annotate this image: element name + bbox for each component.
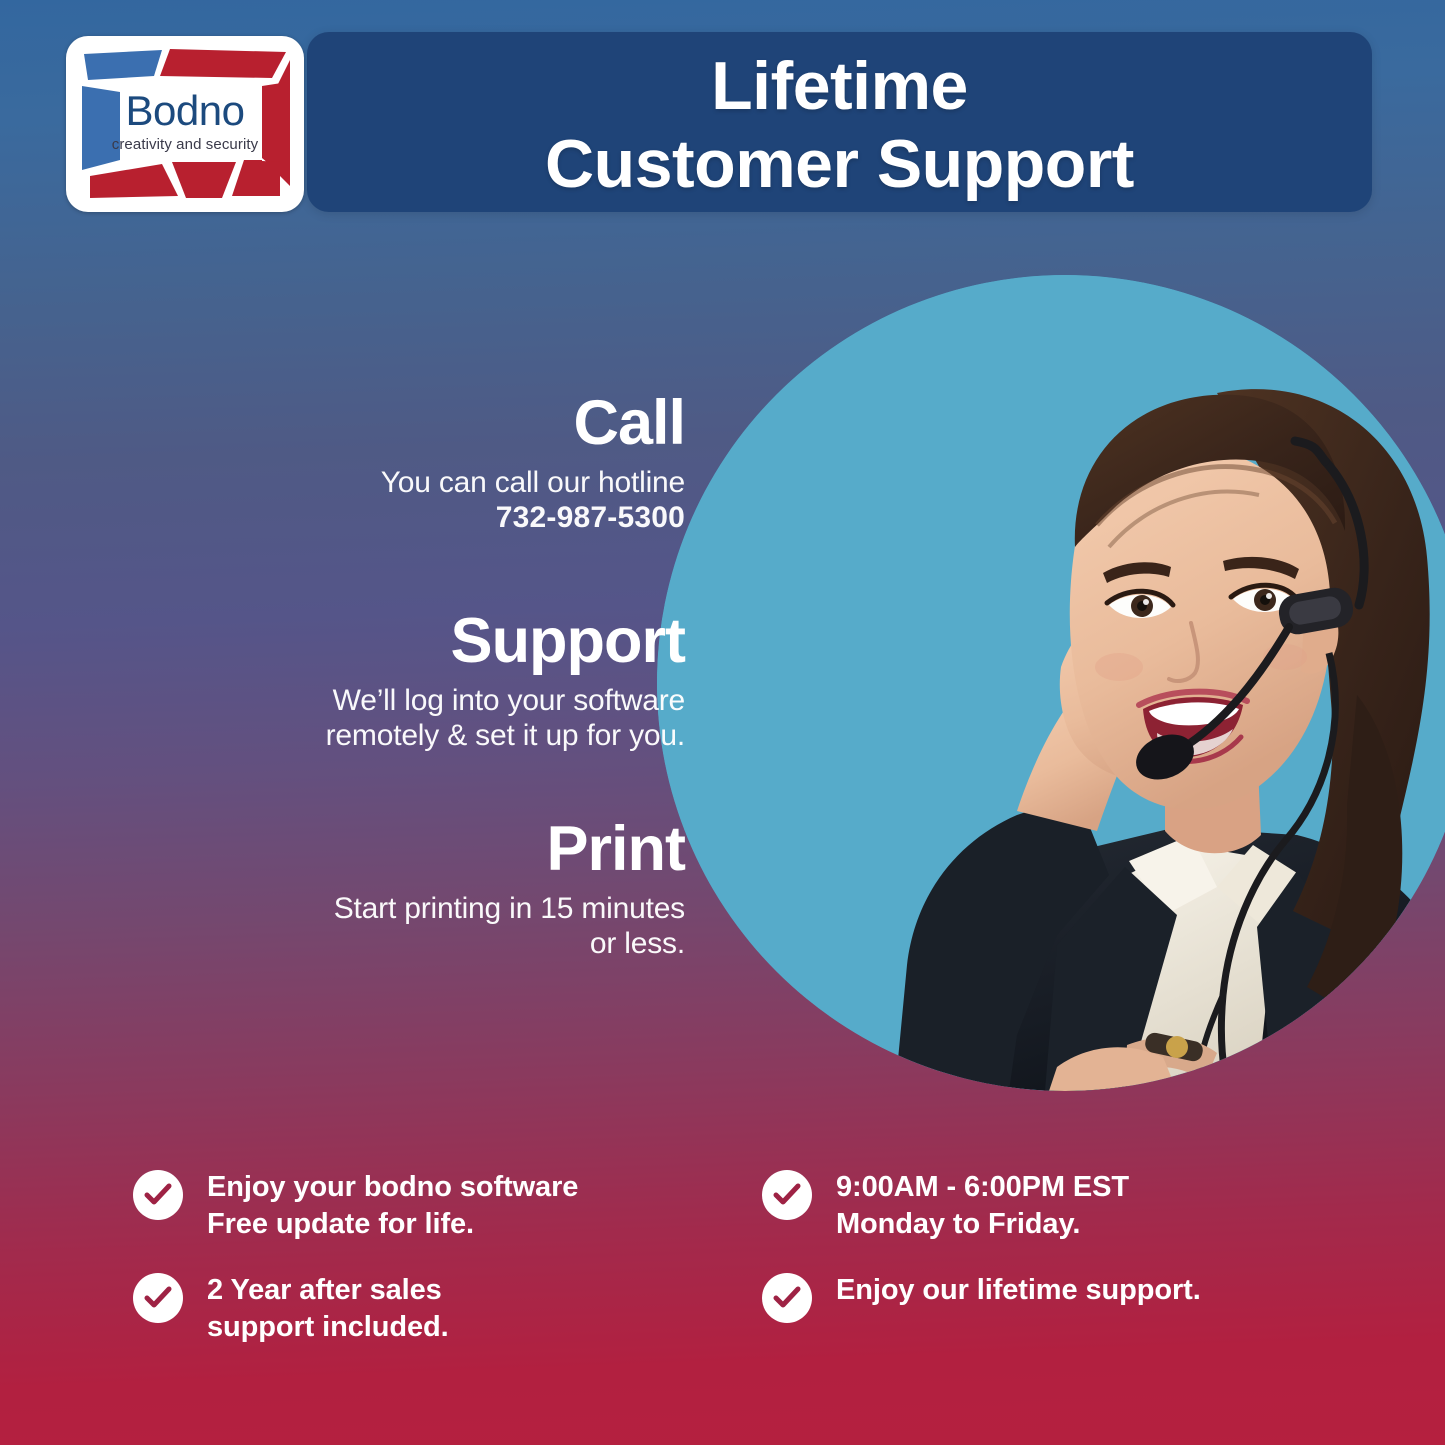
check-circle-icon — [133, 1273, 183, 1323]
feature-support: Support We’ll log into your software rem… — [120, 610, 685, 754]
agent-photo-circle — [657, 275, 1445, 1091]
page-title: Lifetime Customer Support — [307, 32, 1372, 203]
checklist-text: Enjoy our lifetime support. — [836, 1271, 1201, 1309]
list-item: Enjoy our lifetime support. — [762, 1271, 1322, 1323]
feature-support-title: Support — [120, 610, 685, 673]
logo-tagline: creativity and security — [66, 136, 304, 153]
title-line-1: Lifetime — [711, 48, 968, 124]
support-agent-illustration — [657, 275, 1445, 1091]
checklist-column-left: Enjoy your bodno software Free update fo… — [133, 1168, 693, 1374]
checklist-right-1-line1: Enjoy our lifetime support. — [836, 1272, 1201, 1309]
checklist-text: 2 Year after sales support included. — [207, 1271, 449, 1346]
feature-call-line1: You can call our hotline — [381, 466, 685, 499]
check-circle-icon — [133, 1170, 183, 1220]
check-circle-icon — [762, 1170, 812, 1220]
check-circle-icon — [762, 1273, 812, 1323]
checklist-right-0-line2: Monday to Friday. — [836, 1206, 1129, 1243]
hotline-phone-number[interactable]: 732-987-5300 — [496, 501, 685, 534]
header-banner: Lifetime Customer Support — [307, 32, 1372, 212]
logo-wordmark: Bodno — [66, 90, 304, 132]
checklist-left-0-line2: Free update for life. — [207, 1206, 578, 1243]
checklist-right-0-line1: 9:00AM - 6:00PM EST — [836, 1169, 1129, 1206]
feature-support-line1: We’ll log into your software — [333, 684, 685, 717]
checklist-text: 9:00AM - 6:00PM EST Monday to Friday. — [836, 1168, 1129, 1243]
checklist-left-1-line2: support included. — [207, 1309, 449, 1346]
feature-support-subtitle: We’ll log into your software remotely & … — [120, 683, 685, 754]
title-line-2: Customer Support — [307, 126, 1372, 204]
feature-print-line1: Start printing in 15 minutes — [334, 892, 685, 925]
benefits-checklist: Enjoy your bodno software Free update fo… — [0, 1168, 1445, 1398]
feature-support-line2: remotely & set it up for you. — [326, 719, 685, 752]
feature-print-line2: or less. — [590, 927, 685, 960]
list-item: 2 Year after sales support included. — [133, 1271, 693, 1346]
checklist-left-0-line1: Enjoy your bodno software — [207, 1169, 578, 1206]
checklist-column-right: 9:00AM - 6:00PM EST Monday to Friday. En… — [762, 1168, 1322, 1351]
list-item: 9:00AM - 6:00PM EST Monday to Friday. — [762, 1168, 1322, 1243]
feature-print-subtitle: Start printing in 15 minutes or less. — [160, 891, 685, 962]
poster-canvas: Lifetime Customer Support Bodno creativi… — [0, 0, 1445, 1445]
feature-print-title: Print — [160, 818, 685, 881]
checklist-left-1-line1: 2 Year after sales — [207, 1272, 449, 1309]
feature-call-subtitle: You can call our hotline 732-987-5300 — [140, 465, 685, 536]
feature-call: Call You can call our hotline 732-987-53… — [140, 392, 685, 536]
list-item: Enjoy your bodno software Free update fo… — [133, 1168, 693, 1243]
bodno-logo[interactable]: Bodno creativity and security — [66, 36, 304, 212]
feature-call-title: Call — [140, 392, 685, 455]
checklist-text: Enjoy your bodno software Free update fo… — [207, 1168, 578, 1243]
feature-print: Print Start printing in 15 minutes or le… — [160, 818, 685, 962]
